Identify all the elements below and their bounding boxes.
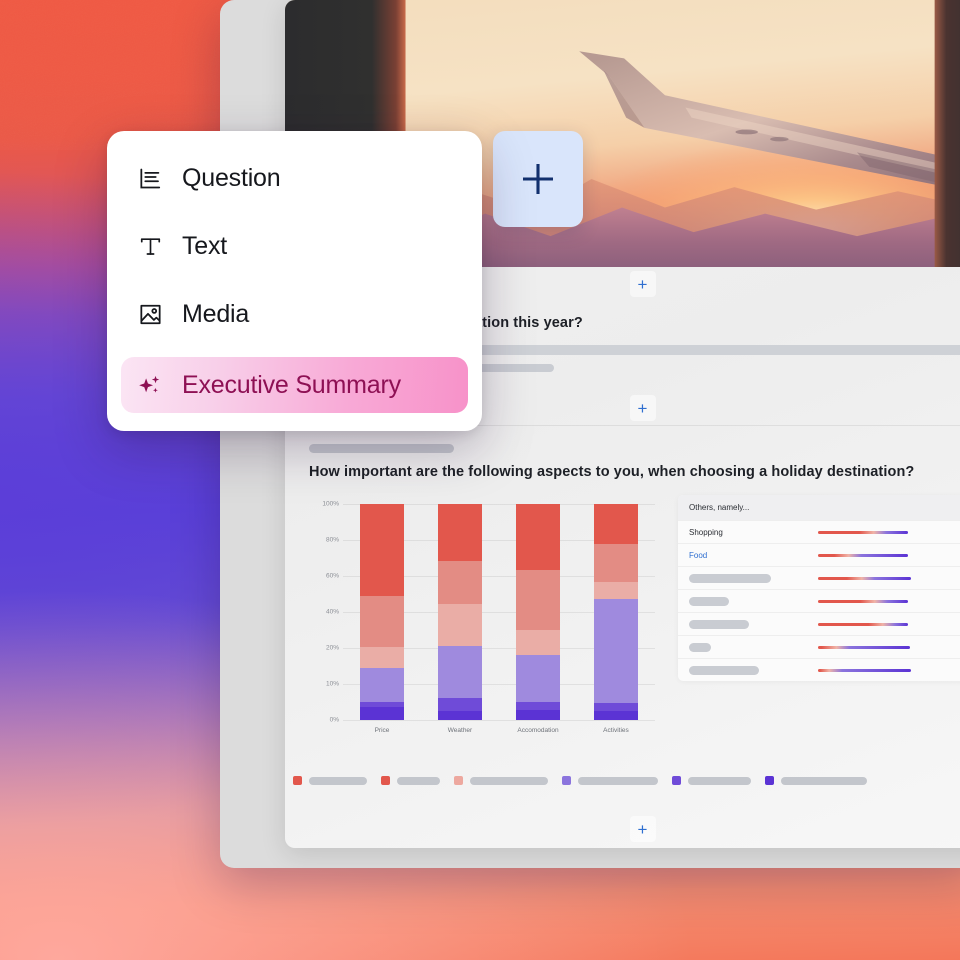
bar-segment-series-3 [516,655,560,702]
bar-segment-series-6 [360,504,404,596]
menu-item-question[interactable]: Question [121,153,468,203]
chart-legend [293,776,867,785]
legend-item[interactable] [765,776,867,785]
bar-segment-series-3 [438,646,482,698]
row-distribution-bar [818,531,908,534]
legend-label-skeleton [470,777,548,785]
plus-icon[interactable]: + [630,271,656,297]
question-block-aspects: How important are the following aspects … [285,425,960,810]
menu-item-label: Executive Summary [182,371,401,400]
bar-segment-series-2 [594,703,638,712]
bar-segment-series-6 [516,504,560,570]
legend-item[interactable] [672,776,751,785]
x-axis-tick-label: Activities [594,727,638,734]
y-axis-tick-label: 20% [313,645,339,652]
legend-label-skeleton [397,777,440,785]
table-row[interactable] [678,635,960,658]
plus-icon[interactable]: + [630,816,656,842]
table-row-label [689,597,818,606]
table-row[interactable] [678,589,960,612]
bar-chart-question-icon [137,165,163,191]
legend-swatch [454,776,463,785]
table-row[interactable] [678,566,960,589]
bar-segment-series-3 [594,599,638,703]
bar-segment-series-4 [594,582,638,599]
plus-icon[interactable]: + [630,395,656,421]
block-label-skeleton [309,444,454,453]
legend-swatch [381,776,390,785]
legend-label-skeleton [309,777,367,785]
table-row-label [689,574,818,583]
label-skeleton [689,620,749,629]
bar-segment-series-1 [360,707,404,720]
legend-item[interactable] [381,776,440,785]
bar-segment-series-4 [438,604,482,646]
legend-label-skeleton [688,777,751,785]
legend-label-skeleton [781,777,867,785]
plus-icon [519,160,557,198]
bar-segment-series-5 [516,570,560,629]
y-axis-tick-label: 40% [313,609,339,616]
menu-item-media[interactable]: Media [121,289,468,339]
block-type-menu[interactable]: Question Text Media [107,131,482,431]
bar-segment-series-1 [594,711,638,720]
row-distribution-bar [818,646,910,649]
table-row-label [689,620,818,629]
bar-segment-series-6 [594,504,638,544]
legend-item[interactable] [562,776,658,785]
chart-bar-accomodation: Accomodation [516,504,560,720]
y-axis-tick-label: 60% [313,573,339,580]
image-media-icon [137,301,163,327]
legend-label-skeleton [578,777,658,785]
bar-segment-series-4 [516,630,560,655]
y-axis-tick-label: 10% [313,681,339,688]
legend-swatch [672,776,681,785]
chart-gridline [343,720,655,721]
bar-segment-series-5 [438,561,482,604]
bar-segment-series-1 [438,711,482,720]
legend-swatch [562,776,571,785]
x-axis-tick-label: Price [360,727,404,734]
menu-item-text[interactable]: Text [121,221,468,271]
table-row-label: Food [689,551,818,560]
chart-bar-weather: Weather [438,504,482,720]
stacked-bar-chart: 0%10%20%40%60%80%100%PriceWeatherAccomod… [309,492,661,748]
bar-segment-series-2 [516,702,560,710]
table-header-cell: Others, namely... [678,495,960,520]
y-axis-tick-label: 0% [313,717,339,724]
bar-segment-series-3 [360,668,404,702]
menu-item-executive-summary[interactable]: Executive Summary [121,357,468,413]
row-distribution-bar [818,600,908,603]
legend-swatch [765,776,774,785]
add-block-strip-bottom[interactable]: + [285,812,960,846]
legend-item[interactable] [454,776,548,785]
chart-bar-activities: Activities [594,504,638,720]
add-block-button[interactable] [493,131,583,227]
chart-bar-price: Price [360,504,404,720]
y-axis-tick-label: 100% [313,501,339,508]
label-skeleton [689,643,711,652]
text-t-icon [137,233,163,259]
x-axis-tick-label: Weather [438,727,482,734]
table-row-label: Shopping [689,528,818,537]
bar-segment-series-5 [594,544,638,582]
bar-segment-series-1 [516,710,560,720]
row-distribution-bar [818,577,911,580]
bar-segment-series-2 [438,698,482,711]
table-body: ShoppingFood [678,520,960,681]
label-skeleton [689,597,729,606]
table-row[interactable]: Food [678,543,960,566]
row-distribution-bar [818,623,908,626]
sparkles-ai-icon [137,372,163,398]
others-namely-table: Others, namely... ShoppingFood [678,495,960,681]
chart-question-title: How important are the following aspects … [309,464,914,480]
bar-segment-series-5 [360,596,404,647]
table-row[interactable] [678,658,960,681]
chart-plot-area: 0%10%20%40%60%80%100%PriceWeatherAccomod… [343,504,655,720]
screenshot-stage: + u planning to go on vacation this year… [0,0,960,960]
y-axis-tick-label: 80% [313,537,339,544]
table-row[interactable]: Shopping [678,520,960,543]
table-row-label [689,666,818,675]
table-row[interactable] [678,612,960,635]
menu-item-label: Media [182,300,249,329]
label-skeleton [689,574,771,583]
bar-segment-series-4 [360,647,404,668]
table-row-label [689,643,818,652]
legend-swatch [293,776,302,785]
bar-segment-series-6 [438,504,482,561]
legend-item[interactable] [293,776,367,785]
menu-item-label: Question [182,164,280,193]
row-distribution-bar [818,554,908,557]
label-skeleton [689,666,759,675]
x-axis-tick-label: Accomodation [516,727,560,734]
menu-item-label: Text [182,232,227,261]
row-distribution-bar [818,669,911,672]
